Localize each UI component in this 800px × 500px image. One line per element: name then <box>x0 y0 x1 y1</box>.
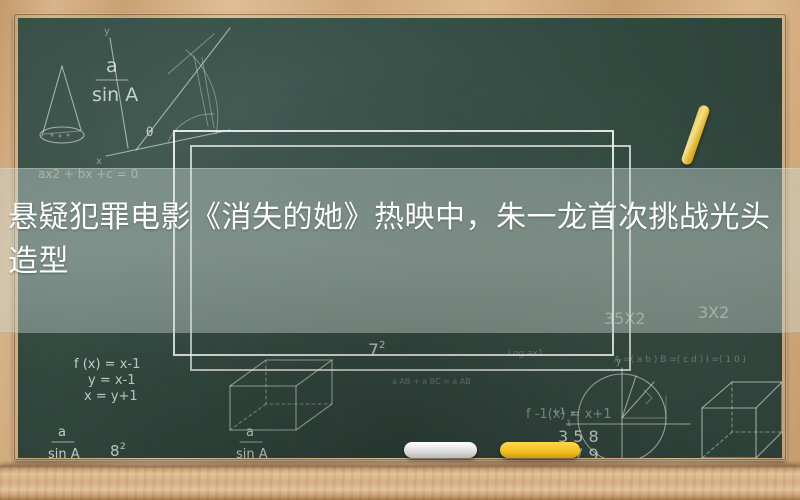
eight-squared: 8 2 <box>110 442 126 458</box>
svg-text:8: 8 <box>110 442 120 458</box>
svg-text:x = y+1: x = y+1 <box>84 389 138 404</box>
cube-figure-right <box>702 382 782 458</box>
svg-text:sin A: sin A <box>236 447 268 458</box>
quadratic-equation: ax2 + bx +c = 0 <box>38 167 138 181</box>
matrix-notation: A =( a b ) B =( c d ) I =( 1 0 ) <box>614 355 746 365</box>
reflection-bottom-edge <box>0 332 800 333</box>
cone-figure <box>40 66 84 143</box>
page-title: 悬疑犯罪电影《消失的她》热映中，朱一龙首次挑战光头造型 <box>8 196 796 284</box>
law-of-sines-expression-2: a sin A <box>48 425 80 458</box>
svg-text:f (x) = x-1: f (x) = x-1 <box>74 357 140 372</box>
svg-text:x: x <box>96 156 102 167</box>
reflection-top-edge <box>0 168 800 169</box>
mult-3x2: 3X2 <box>698 303 729 322</box>
svg-text:y = x-1: y = x-1 <box>88 373 136 388</box>
svg-text:a: a <box>58 425 66 440</box>
vector-sum-note: a AB + a BC = a AB <box>392 377 471 386</box>
law-of-sines-expression-1: a sin A <box>92 55 138 106</box>
svg-text:sin A: sin A <box>92 84 138 106</box>
chalkboard-banner: a sin A ax2 + bx +c = 0 y x θ <box>0 0 800 500</box>
svg-text:a: a <box>246 425 254 440</box>
svg-text:θ: θ <box>146 125 153 139</box>
function-definition-group: f (x) = x-1 y = x-1 x = y+1 <box>74 357 140 404</box>
svg-text:x: x <box>570 409 576 419</box>
svg-text:2: 2 <box>120 442 126 452</box>
svg-text:sin A: sin A <box>48 447 80 458</box>
chalk-tray-ledge <box>0 466 800 500</box>
svg-text:+1: +1 <box>552 407 565 417</box>
white-chalk-piece <box>404 442 477 458</box>
yellow-chalk-piece <box>500 442 580 458</box>
svg-text:y: y <box>104 26 110 37</box>
